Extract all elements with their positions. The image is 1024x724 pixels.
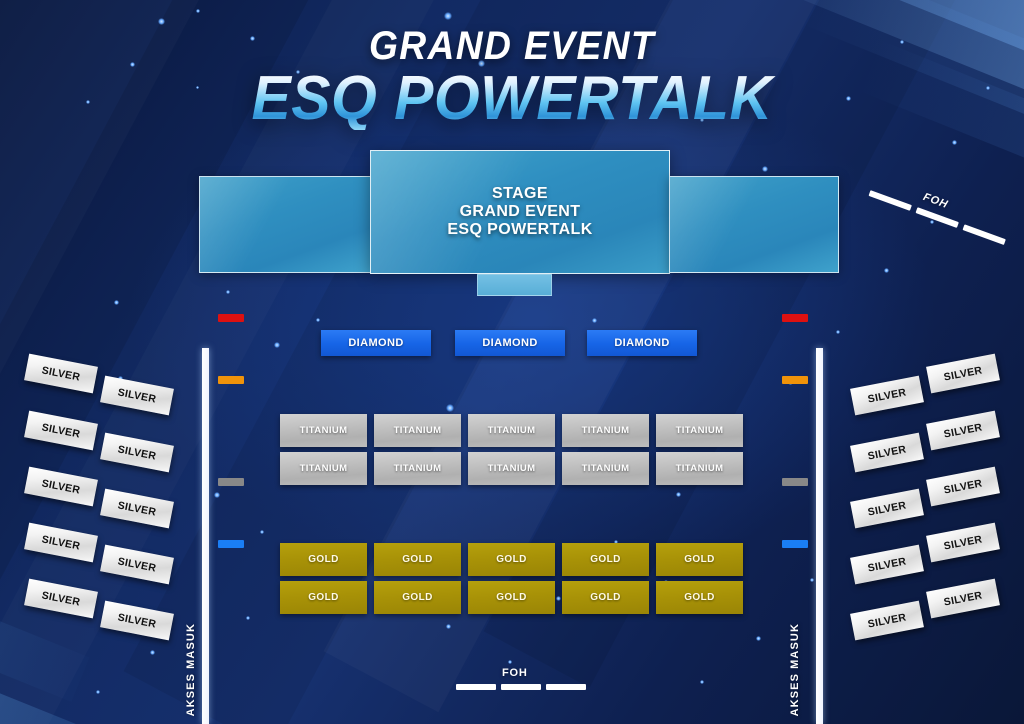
background-accent-band	[0, 690, 106, 724]
marker-red-left	[218, 314, 244, 322]
silver-block-right-label: SILVER	[867, 611, 908, 630]
background-sparkle	[196, 9, 200, 13]
background-sparkle	[226, 290, 230, 294]
marker-orange-right	[782, 376, 808, 384]
foh-dash	[501, 684, 541, 690]
marker-orange-left	[218, 376, 244, 384]
silver-block-left-2[interactable]: SILVER	[100, 376, 174, 416]
gold-block-6[interactable]: GOLD	[280, 581, 367, 614]
silver-block-left-label: SILVER	[117, 555, 158, 574]
marker-red-right	[782, 314, 808, 322]
background-accent-band	[0, 632, 152, 724]
silver-block-left-10[interactable]: SILVER	[100, 601, 174, 641]
marker-blue-left	[218, 540, 244, 548]
stage-label-line1: STAGE	[447, 185, 592, 203]
silver-block-left-8[interactable]: SILVER	[100, 545, 174, 585]
diamond-block-label: DIAMOND	[482, 337, 537, 349]
silver-block-left-4[interactable]: SILVER	[100, 433, 174, 473]
gold-block-8[interactable]: GOLD	[468, 581, 555, 614]
titanium-block-label: TITANIUM	[676, 463, 724, 474]
background-sparkle	[836, 330, 840, 334]
event-title: GRAND EVENT ESQ POWERTALK	[0, 26, 1024, 130]
gold-block-label: GOLD	[496, 554, 527, 565]
background-sparkle	[756, 636, 761, 641]
diamond-block-1[interactable]: DIAMOND	[321, 330, 431, 356]
silver-block-left-1[interactable]: SILVER	[24, 354, 98, 394]
gold-block-label: GOLD	[402, 592, 433, 603]
silver-block-right-label: SILVER	[943, 589, 984, 608]
foh-top-right: FOH	[865, 177, 1007, 253]
titanium-block-4[interactable]: TITANIUM	[562, 414, 649, 447]
gold-block-label: GOLD	[590, 554, 621, 565]
left-screen	[199, 176, 371, 273]
background-sparkle	[246, 616, 250, 620]
gold-block-label: GOLD	[308, 554, 339, 565]
titanium-block-5[interactable]: TITANIUM	[656, 414, 743, 447]
silver-block-right-7[interactable]: SILVER	[926, 523, 1000, 563]
title-line-esq-powertalk: ESQ POWERTALK	[26, 68, 999, 130]
background-sparkle	[260, 530, 264, 534]
silver-block-left-label: SILVER	[117, 499, 158, 518]
titanium-block-label: TITANIUM	[300, 463, 348, 474]
background-sparkle	[150, 650, 155, 655]
silver-block-right-label: SILVER	[943, 364, 984, 383]
silver-block-right-5[interactable]: SILVER	[926, 467, 1000, 507]
foh-dash	[962, 224, 1005, 245]
titanium-block-label: TITANIUM	[394, 425, 442, 436]
background-sparkle	[444, 12, 452, 20]
background-sparkle	[114, 300, 119, 305]
titanium-block-6[interactable]: TITANIUM	[280, 452, 367, 485]
gold-block-10[interactable]: GOLD	[656, 581, 743, 614]
foh-dash	[915, 207, 958, 228]
foh-dash	[869, 190, 912, 211]
titanium-block-8[interactable]: TITANIUM	[468, 452, 555, 485]
titanium-block-2[interactable]: TITANIUM	[374, 414, 461, 447]
silver-block-left-label: SILVER	[41, 477, 82, 496]
stage-label: STAGE GRAND EVENT ESQ POWERTALK	[447, 185, 592, 240]
title-line-grand-event: GRAND EVENT	[36, 26, 988, 66]
background-sparkle	[316, 318, 320, 322]
silver-block-left-6[interactable]: SILVER	[100, 489, 174, 529]
silver-block-left-label: SILVER	[41, 421, 82, 440]
diamond-block-2[interactable]: DIAMOND	[455, 330, 565, 356]
silver-block-right-label: SILVER	[943, 421, 984, 440]
gold-block-label: GOLD	[684, 592, 715, 603]
background-sparkle	[810, 578, 814, 582]
foh-bottom-center: FOH	[456, 668, 584, 696]
background-sparkle	[700, 680, 704, 684]
silver-block-right-3[interactable]: SILVER	[926, 411, 1000, 451]
titanium-block-label: TITANIUM	[676, 425, 724, 436]
silver-block-right-label: SILVER	[867, 386, 908, 405]
silver-block-left-label: SILVER	[41, 533, 82, 552]
silver-block-right-label: SILVER	[867, 443, 908, 462]
gold-block-label: GOLD	[402, 554, 433, 565]
gold-block-label: GOLD	[684, 554, 715, 565]
access-rail-left	[202, 348, 209, 724]
silver-block-left-7[interactable]: SILVER	[24, 523, 98, 563]
silver-block-right-label: SILVER	[943, 533, 984, 552]
silver-block-right-6[interactable]: SILVER	[850, 489, 924, 529]
silver-block-left-3[interactable]: SILVER	[24, 411, 98, 451]
silver-block-left-label: SILVER	[41, 364, 82, 383]
diamond-block-label: DIAMOND	[614, 337, 669, 349]
background-sparkle	[158, 18, 165, 25]
background-sparkle	[508, 660, 512, 664]
silver-block-left-5[interactable]: SILVER	[24, 467, 98, 507]
gold-block-2[interactable]: GOLD	[374, 543, 461, 576]
background-sparkle	[446, 404, 454, 412]
marker-blue-right	[782, 540, 808, 548]
titanium-block-9[interactable]: TITANIUM	[562, 452, 649, 485]
background-sparkle	[214, 492, 220, 498]
stage-center: STAGE GRAND EVENT ESQ POWERTALK	[370, 150, 670, 274]
access-rail-right	[816, 348, 823, 724]
silver-block-right-10[interactable]: SILVER	[850, 601, 924, 641]
gold-block-5[interactable]: GOLD	[656, 543, 743, 576]
foh-label-bottom: FOH	[502, 667, 528, 679]
stage-label-line3: ESQ POWERTALK	[447, 221, 592, 239]
background-sparkle	[884, 268, 889, 273]
gold-block-label: GOLD	[308, 592, 339, 603]
titanium-block-label: TITANIUM	[394, 463, 442, 474]
foh-dash	[456, 684, 496, 690]
marker-gray-left	[218, 478, 244, 486]
gold-block-label: GOLD	[590, 592, 621, 603]
silver-block-right-label: SILVER	[943, 477, 984, 496]
background-sparkle	[96, 690, 100, 694]
titanium-block-7[interactable]: TITANIUM	[374, 452, 461, 485]
silver-block-right-8[interactable]: SILVER	[850, 545, 924, 585]
background-sparkle	[952, 140, 957, 145]
gold-block-label: GOLD	[496, 592, 527, 603]
titanium-block-3[interactable]: TITANIUM	[468, 414, 555, 447]
background-sparkle	[446, 624, 451, 629]
seating-chart: GRAND EVENT ESQ POWERTALK STAGE GRAND EV…	[0, 0, 1024, 724]
foh-label-top-right: FOH	[921, 191, 949, 211]
titanium-block-1[interactable]: TITANIUM	[280, 414, 367, 447]
silver-block-right-9[interactable]: SILVER	[926, 579, 1000, 619]
silver-block-left-label: SILVER	[117, 386, 158, 405]
background-sparkle	[274, 342, 280, 348]
foh-dash	[546, 684, 586, 690]
stage-label-line2: GRAND EVENT	[447, 203, 592, 221]
silver-block-right-label: SILVER	[867, 555, 908, 574]
silver-block-left-9[interactable]: SILVER	[24, 579, 98, 619]
titanium-block-label: TITANIUM	[582, 425, 630, 436]
titanium-block-label: TITANIUM	[488, 463, 536, 474]
background-sparkle	[592, 318, 597, 323]
gold-block-7[interactable]: GOLD	[374, 581, 461, 614]
background-sparkle	[556, 596, 561, 601]
silver-block-left-label: SILVER	[117, 443, 158, 462]
silver-block-right-4[interactable]: SILVER	[850, 433, 924, 473]
gold-block-1[interactable]: GOLD	[280, 543, 367, 576]
akses-masuk-right: AKSES MASUK	[789, 623, 801, 716]
gold-block-3[interactable]: GOLD	[468, 543, 555, 576]
silver-block-left-label: SILVER	[117, 611, 158, 630]
gold-block-4[interactable]: GOLD	[562, 543, 649, 576]
right-screen	[669, 176, 839, 273]
titanium-block-label: TITANIUM	[488, 425, 536, 436]
stage-runway	[477, 274, 552, 296]
titanium-block-10[interactable]: TITANIUM	[656, 452, 743, 485]
diamond-block-3[interactable]: DIAMOND	[587, 330, 697, 356]
marker-gray-right	[782, 478, 808, 486]
silver-block-right-label: SILVER	[867, 499, 908, 518]
silver-block-right-2[interactable]: SILVER	[850, 376, 924, 416]
silver-block-right-1[interactable]: SILVER	[926, 354, 1000, 394]
titanium-block-label: TITANIUM	[582, 463, 630, 474]
diamond-block-label: DIAMOND	[348, 337, 403, 349]
gold-block-9[interactable]: GOLD	[562, 581, 649, 614]
silver-block-left-label: SILVER	[41, 589, 82, 608]
akses-masuk-left: AKSES MASUK	[185, 623, 197, 716]
background-sparkle	[762, 166, 768, 172]
background-sparkle	[676, 492, 681, 497]
titanium-block-label: TITANIUM	[300, 425, 348, 436]
